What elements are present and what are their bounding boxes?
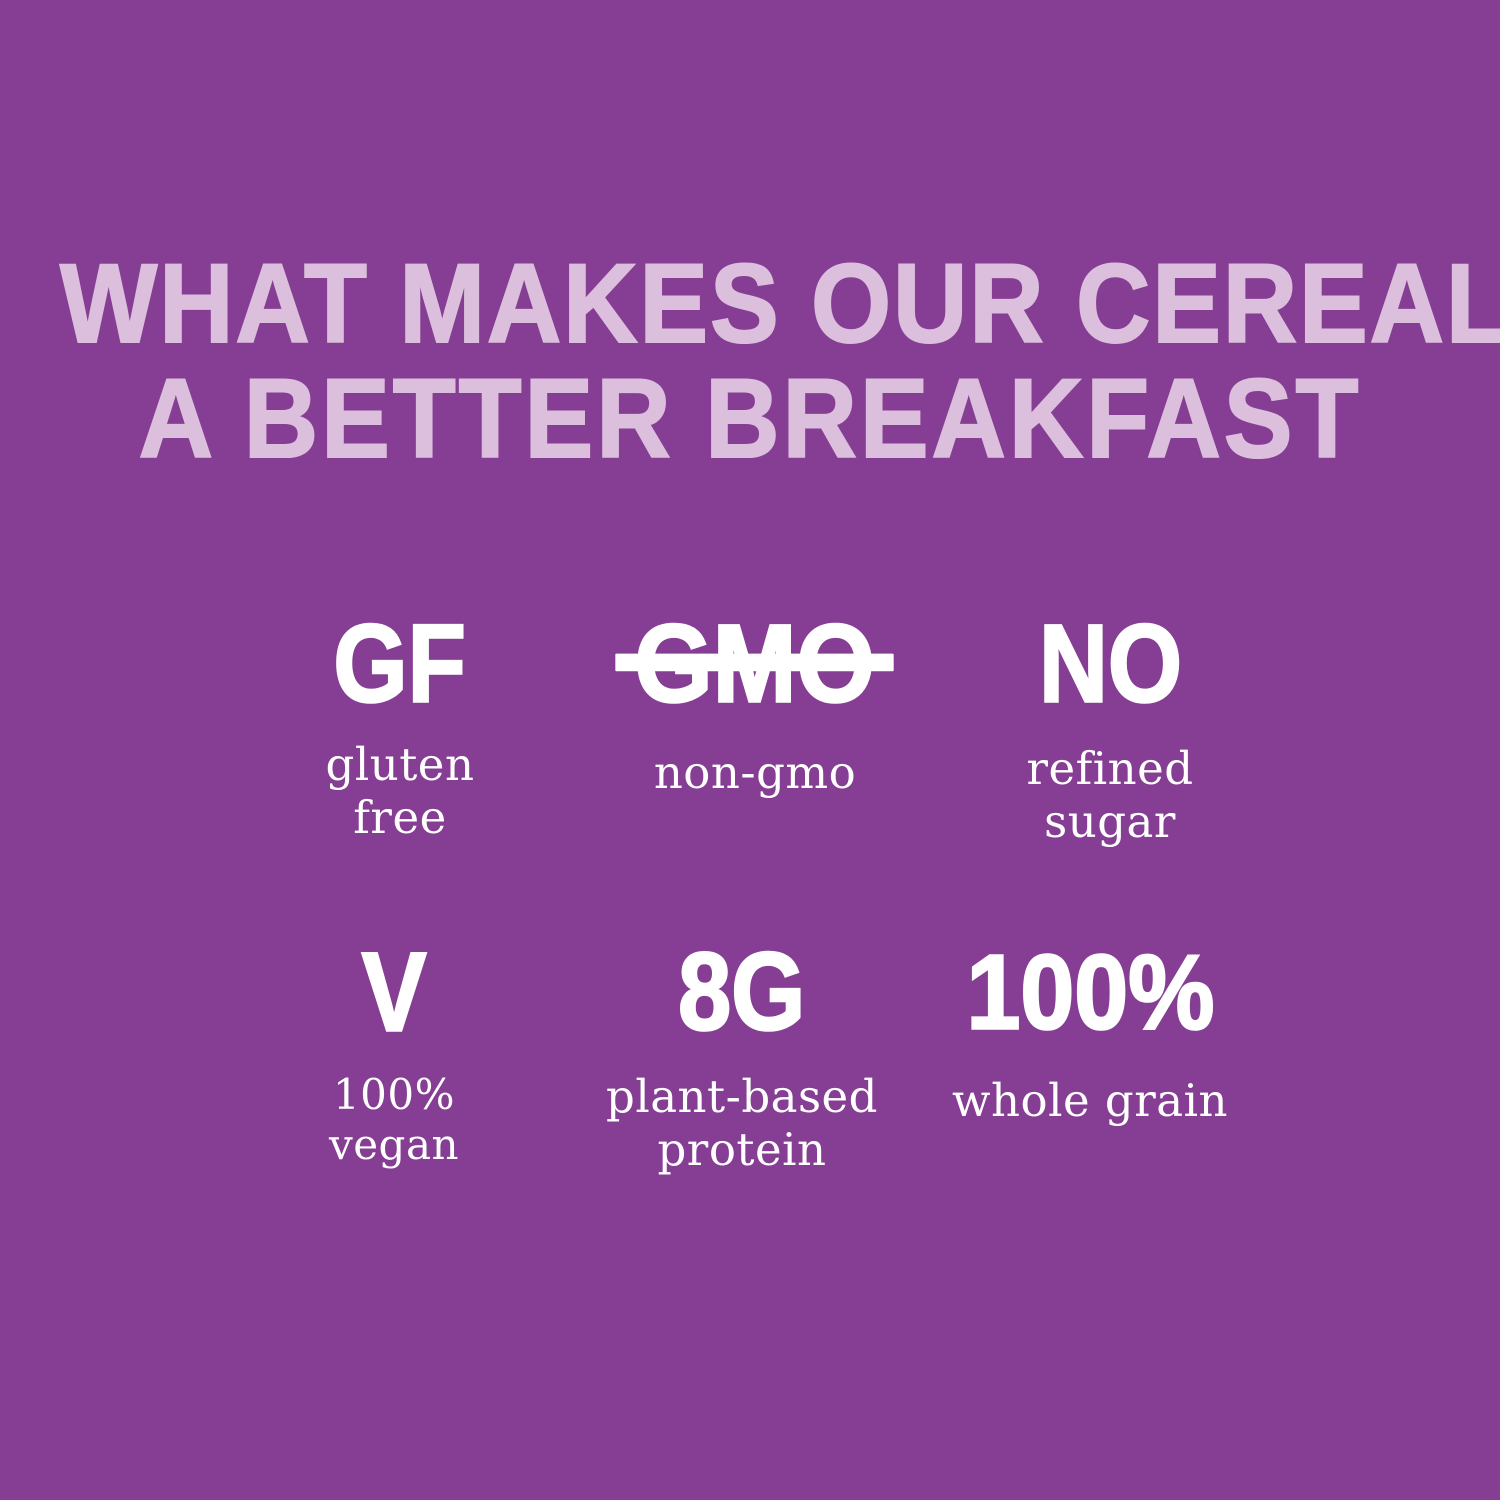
vegan-caption-line-2: vegan — [220, 1120, 568, 1170]
benefit-badge-gluten-free: GF gluten free — [223, 612, 578, 844]
benefit-badge-vegan: V 100% vegan — [220, 940, 568, 1170]
whole-grain-caption-line-1: whole grain — [916, 1074, 1264, 1127]
benefit-badge-plant-based-protein: 8G plant-based protein — [568, 940, 916, 1176]
no-refined-sugar-caption-line-1: refined — [933, 742, 1288, 795]
headline-line-1: WHAT MAKES OUR CEREAL — [60, 246, 1440, 361]
non-gmo-caption: non-gmo — [578, 746, 933, 799]
plant-based-protein-caption-line-2: protein — [568, 1123, 916, 1176]
cereal-benefits-poster: WHAT MAKES OUR CEREAL A BETTER BREAKFAST… — [0, 0, 1500, 1500]
no-refined-sugar-caption-line-2: sugar — [933, 795, 1288, 848]
headline-line-2: A BETTER BREAKFAST — [60, 361, 1440, 476]
gluten-free-caption-line-1: gluten — [223, 738, 578, 791]
vegan-caption: 100% vegan — [220, 1070, 568, 1170]
benefit-badge-non-gmo: GMO non-gmo — [578, 612, 933, 799]
vegan-caption-line-1: 100% — [220, 1070, 568, 1120]
gluten-free-mark-icon: GF — [334, 610, 466, 718]
benefit-badge-grid: GF gluten free GMO non-gmo NO refined su… — [0, 612, 1500, 1176]
benefit-badge-row-2: V 100% vegan 8G plant-based protein 100%… — [0, 940, 1500, 1176]
non-gmo-struck-mark-icon: GMO — [635, 610, 876, 718]
gluten-free-caption-line-2: free — [223, 791, 578, 844]
plant-based-protein-caption-line-1: plant-based — [568, 1070, 916, 1123]
page-title: WHAT MAKES OUR CEREAL A BETTER BREAKFAST — [60, 246, 1440, 476]
no-refined-sugar-caption: refined sugar — [933, 742, 1288, 848]
benefit-badge-no-refined-sugar: NO refined sugar — [933, 612, 1288, 848]
no-refined-sugar-mark-icon: NO — [1038, 610, 1181, 718]
gluten-free-caption: gluten free — [223, 738, 578, 844]
non-gmo-caption-line-1: non-gmo — [578, 746, 933, 799]
benefit-badge-row-1: GF gluten free GMO non-gmo NO refined su… — [0, 612, 1500, 848]
plant-based-protein-caption: plant-based protein — [568, 1070, 916, 1176]
vegan-mark-icon: V — [362, 938, 427, 1046]
benefit-badge-whole-grain: 100% whole grain — [916, 940, 1264, 1127]
whole-grain-mark-icon: 100% — [966, 938, 1214, 1046]
whole-grain-caption: whole grain — [916, 1074, 1264, 1127]
plant-based-protein-mark-icon: 8G — [678, 938, 805, 1046]
